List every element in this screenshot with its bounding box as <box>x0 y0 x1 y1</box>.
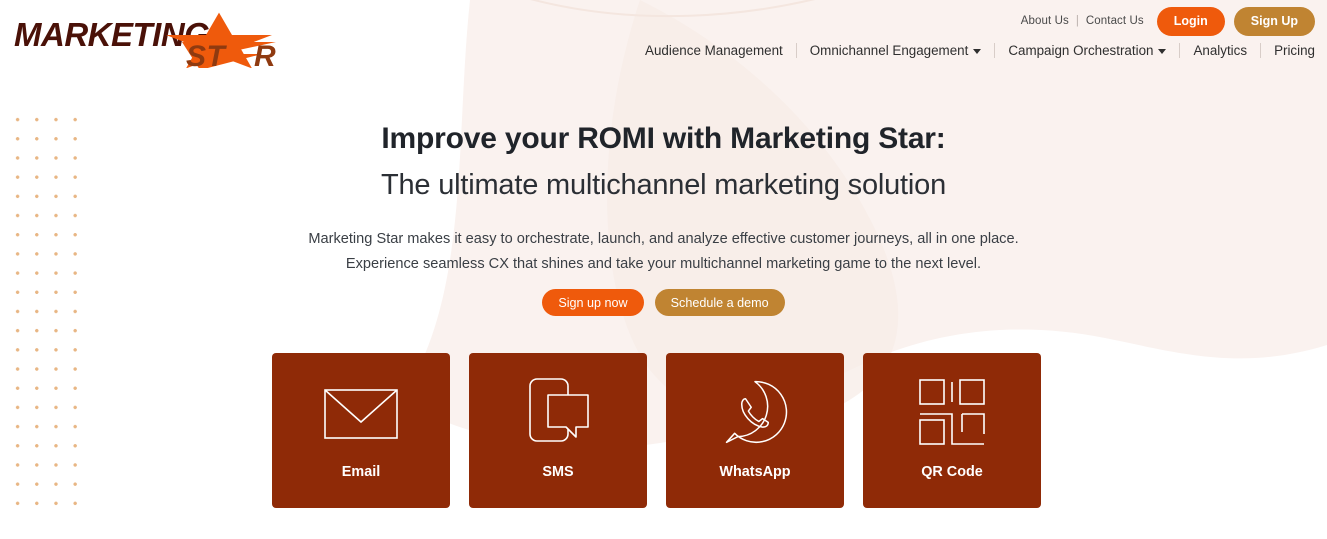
signup-button[interactable]: Sign Up <box>1234 7 1315 36</box>
hero-cta-row: Sign up now Schedule a demo <box>0 289 1327 316</box>
whatsapp-icon <box>713 375 797 449</box>
channel-card-list: Email SMS WhatsApp <box>272 353 1041 508</box>
channel-card-qr-code[interactable]: QR Code <box>863 353 1041 508</box>
hero-subheading-line2: Experience seamless CX that shines and t… <box>0 252 1327 277</box>
hero-subheading: Marketing Star makes it easy to orchestr… <box>0 227 1327 277</box>
nav-label: Campaign Orchestration <box>1008 43 1153 58</box>
nav-label: Omnichannel Engagement <box>810 43 969 58</box>
channel-label: SMS <box>469 464 647 480</box>
channel-label: QR Code <box>863 464 1041 480</box>
utility-nav: About Us | Contact Us Login Sign Up <box>1021 4 1315 38</box>
nav-divider <box>994 43 995 58</box>
nav-divider <box>1260 43 1261 58</box>
site-header: MARKETING ST R About Us | Contact Us Log… <box>0 0 1327 76</box>
login-button[interactable]: Login <box>1157 7 1225 36</box>
sign-up-now-button[interactable]: Sign up now <box>542 289 643 316</box>
logo-text-marketing: MARKETING <box>14 16 209 53</box>
hero-headline-line2: The ultimate multichannel marketing solu… <box>0 169 1327 202</box>
channel-label: WhatsApp <box>666 464 844 480</box>
envelope-icon <box>319 375 403 449</box>
logo-text-star-end: R <box>254 40 276 68</box>
channel-card-whatsapp[interactable]: WhatsApp <box>666 353 844 508</box>
nav-label: Audience Management <box>645 43 783 58</box>
nav-divider <box>796 43 797 58</box>
chevron-down-icon <box>973 49 981 54</box>
nav-label: Analytics <box>1193 43 1247 58</box>
hero-subheading-line1: Marketing Star makes it easy to orchestr… <box>0 227 1327 252</box>
nav-item-analytics[interactable]: Analytics <box>1193 43 1247 58</box>
channel-card-email[interactable]: Email <box>272 353 450 508</box>
nav-item-audience-management[interactable]: Audience Management <box>645 43 783 58</box>
nav-item-pricing[interactable]: Pricing <box>1274 43 1315 58</box>
nav-item-campaign-orchestration[interactable]: Campaign Orchestration <box>1008 43 1166 58</box>
hero-headline-line1: Improve your ROMI with Marketing Star: <box>0 122 1327 156</box>
qr-code-icon <box>910 375 994 449</box>
utility-separator: | <box>1076 15 1079 27</box>
nav-item-omnichannel-engagement[interactable]: Omnichannel Engagement <box>810 43 982 58</box>
main-nav: Audience Management Omnichannel Engageme… <box>645 43 1315 58</box>
logo-text-star: ST <box>186 40 228 68</box>
nav-divider <box>1179 43 1180 58</box>
about-us-link[interactable]: About Us <box>1021 15 1069 27</box>
channel-card-sms[interactable]: SMS <box>469 353 647 508</box>
channel-label: Email <box>272 464 450 480</box>
phone-message-icon <box>516 375 600 449</box>
schedule-a-demo-button[interactable]: Schedule a demo <box>655 289 785 316</box>
contact-us-link[interactable]: Contact Us <box>1086 15 1144 27</box>
nav-label: Pricing <box>1274 43 1315 58</box>
chevron-down-icon <box>1158 49 1166 54</box>
marketing-star-logo[interactable]: MARKETING ST R <box>14 8 276 68</box>
